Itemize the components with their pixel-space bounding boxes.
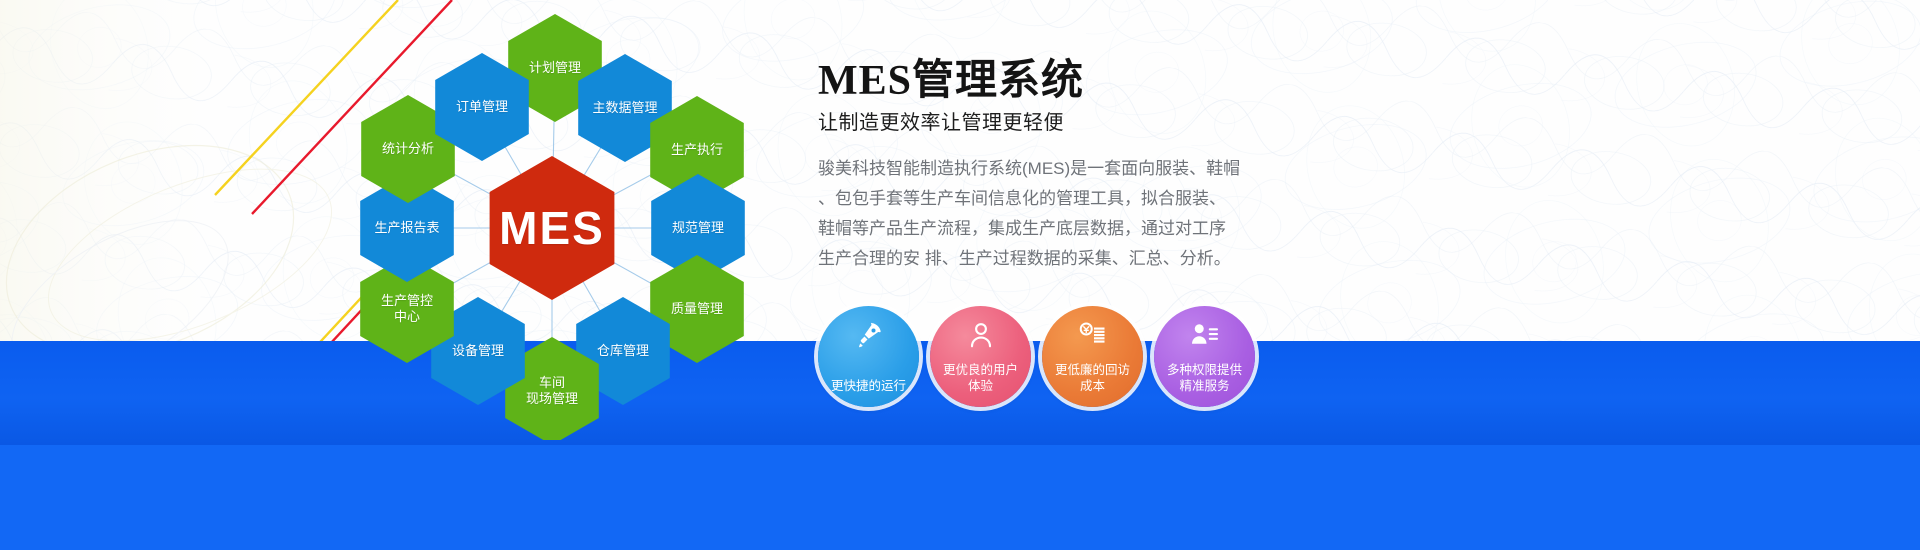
feature-badge-label: 更低廉的回访 成本 bbox=[1047, 362, 1139, 394]
feature-badge-label: 更优良的用户 体验 bbox=[935, 362, 1027, 394]
description-line: 骏美科技智能制造执行系统(MES)是一套面向服装、鞋帽 bbox=[818, 154, 1278, 184]
banner-copy: MES管理系统 让制造更效率让管理更轻便 骏美科技智能制造执行系统(MES)是一… bbox=[818, 56, 1338, 274]
hex-node-center[interactable] bbox=[490, 156, 615, 300]
feature-badge-1[interactable]: 更快捷的运行 bbox=[818, 306, 919, 407]
rocket-icon bbox=[854, 320, 884, 350]
user-list-icon bbox=[1190, 320, 1220, 350]
blue-band-lower bbox=[0, 445, 1920, 550]
hex-diagram-svg bbox=[330, 10, 790, 440]
feature-badge-label: 更快捷的运行 bbox=[823, 378, 915, 394]
page-title: MES管理系统 bbox=[818, 56, 1338, 106]
feature-badge-3[interactable]: 更低廉的回访 成本 bbox=[1042, 306, 1143, 407]
feature-badge-label: 多种权限提供 精准服务 bbox=[1159, 362, 1251, 394]
feature-badge-list: 更快捷的运行更优良的用户 体验更低廉的回访 成本多种权限提供 精准服务 bbox=[818, 306, 1255, 407]
coins-icon bbox=[1078, 320, 1108, 350]
mes-banner: 计划管理主数据管理生产执行规范管理质量管理仓库管理车间 现场管理设备管理生产管控… bbox=[0, 0, 1920, 550]
page-subtitle: 让制造更效率让管理更轻便 bbox=[818, 108, 1338, 138]
mes-hex-diagram: 计划管理主数据管理生产执行规范管理质量管理仓库管理车间 现场管理设备管理生产管控… bbox=[330, 10, 790, 440]
description-line: 鞋帽等产品生产流程，集成生产底层数据，通过对工序 bbox=[818, 214, 1278, 244]
description-line: 生产合理的安 排、生产过程数据的采集、汇总、分析。 bbox=[818, 244, 1278, 274]
description-paragraph: 骏美科技智能制造执行系统(MES)是一套面向服装、鞋帽 、包包手套等生产车间信息… bbox=[818, 154, 1278, 274]
description-line: 、包包手套等生产车间信息化的管理工具，拟合服装、 bbox=[818, 184, 1278, 214]
feature-badge-2[interactable]: 更优良的用户 体验 bbox=[930, 306, 1031, 407]
feature-badge-4[interactable]: 多种权限提供 精准服务 bbox=[1154, 306, 1255, 407]
user-icon bbox=[966, 320, 996, 350]
